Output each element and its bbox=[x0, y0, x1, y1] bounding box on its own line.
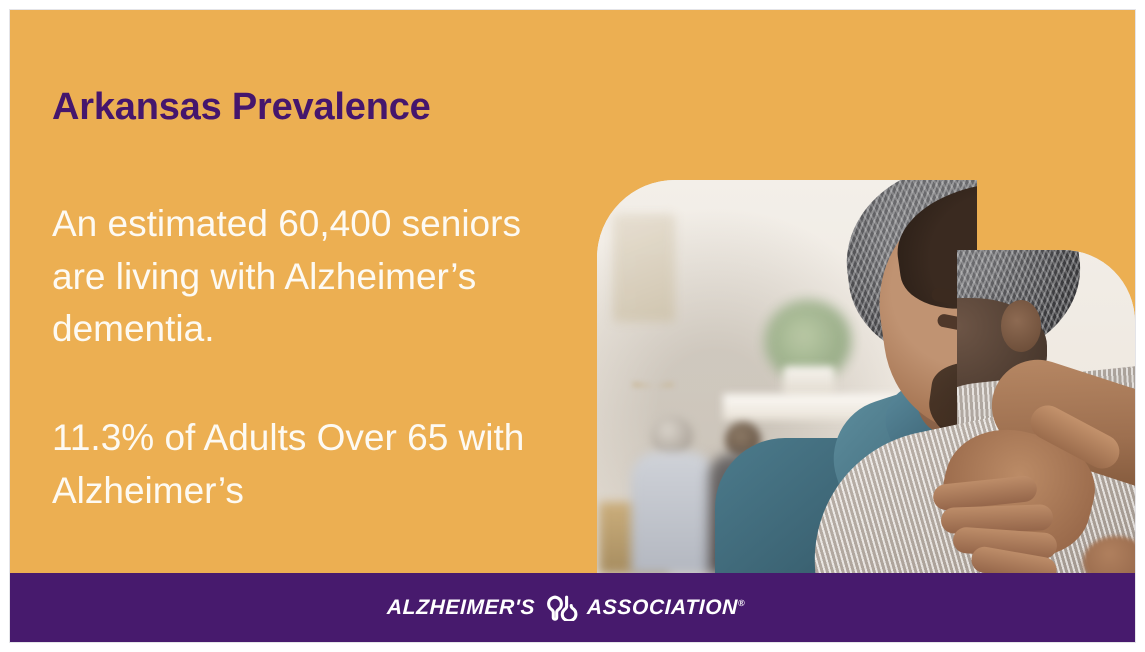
background-dried-stems bbox=[633, 266, 673, 386]
logo-word-association-text: ASSOCIATION bbox=[587, 596, 739, 619]
alzheimers-association-logo-icon bbox=[544, 595, 578, 621]
slide-canvas: Arkansas Prevalence An estimated 60,400 … bbox=[0, 0, 1145, 652]
background-person-a-head bbox=[651, 416, 693, 456]
registered-trademark-symbol: ® bbox=[738, 598, 746, 608]
photo-scene bbox=[597, 180, 977, 573]
hero-photo bbox=[597, 180, 1135, 573]
footer-bar: ALZHEIMER'S ASSOCIATION® bbox=[10, 573, 1135, 642]
page-title: Arkansas Prevalence bbox=[52, 86, 431, 129]
prevalence-statement-percentage: 11.3% of Adults Over 65 with Alzheimer’s bbox=[52, 412, 572, 517]
older-person-ear bbox=[1001, 300, 1041, 352]
background-person-a-body bbox=[631, 452, 715, 573]
logo-word-association: ASSOCIATION® bbox=[587, 596, 746, 620]
prevalence-statement-seniors: An estimated 60,400 seniors are living w… bbox=[52, 198, 552, 356]
logo-word-alzheimers: ALZHEIMER'S bbox=[387, 596, 536, 620]
slide-body: Arkansas Prevalence An estimated 60,400 … bbox=[10, 10, 1135, 642]
alzheimers-association-logo: ALZHEIMER'S ASSOCIATION® bbox=[387, 595, 745, 621]
photo-scene-continuation bbox=[957, 250, 1135, 573]
hero-photo-right-panel bbox=[957, 250, 1135, 573]
hero-photo-left-panel bbox=[597, 180, 977, 573]
